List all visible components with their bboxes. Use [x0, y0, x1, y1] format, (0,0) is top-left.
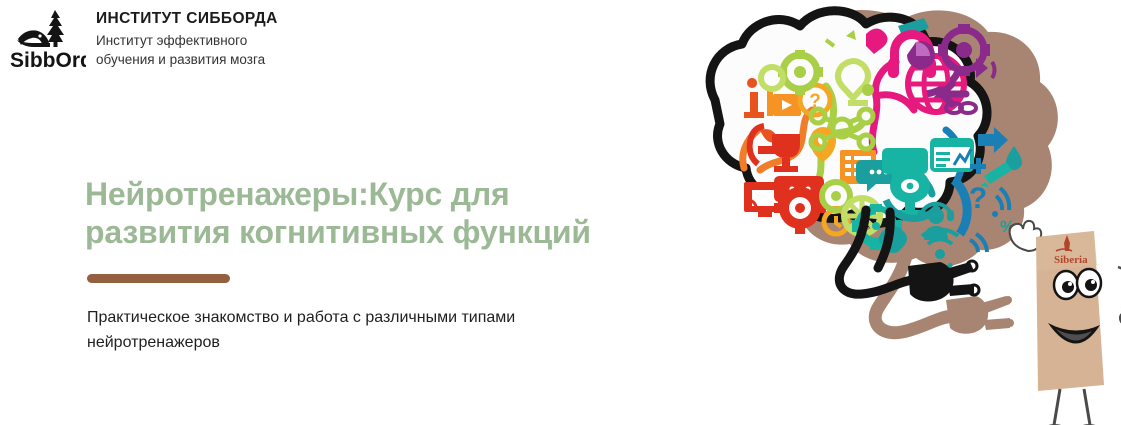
- mascot-label: Siberia: [1054, 254, 1088, 266]
- plug-shadow: [946, 296, 1014, 334]
- page-subtitle-line-2: нейротренажеров: [87, 334, 220, 351]
- brand-title: ИНСТИТУТ СИББОРДА: [96, 10, 278, 28]
- hero-illustration: ?: [640, 0, 1121, 425]
- hero-block: Нейротренажеры:Курс для развития когнити…: [85, 176, 665, 356]
- svg-text:?: ?: [969, 182, 987, 215]
- page-subtitle: Практическое знакомство и работа с разли…: [87, 305, 627, 357]
- wooden-plank-mascot: Siberia: [1010, 221, 1121, 425]
- sibbord-logo[interactable]: SibbOrd: [8, 6, 86, 72]
- page-title: Нейротренажеры:Курс для развития когнити…: [85, 176, 665, 252]
- mascot-legs: [1038, 389, 1106, 425]
- brand-subtitle-line-1: Институт эффективного: [96, 31, 278, 51]
- site-header: SibbOrd ИНСТИТУТ СИББОРДА Институт эффек…: [0, 0, 278, 72]
- page-root: SibbOrd ИНСТИТУТ СИББОРДА Институт эффек…: [0, 0, 1121, 425]
- title-divider: [87, 274, 230, 283]
- power-plug-icon: [908, 261, 979, 302]
- page-title-line-2: развития когнитивных функций: [85, 214, 591, 250]
- page-subtitle-line-1: Практическое знакомство и работа с разли…: [87, 309, 515, 326]
- brand-text-block: ИНСТИТУТ СИББОРДА Институт эффективного …: [96, 10, 278, 70]
- brand-subtitle-line-2: обучения и развития мозга: [96, 50, 278, 70]
- pine-tree-bird-emblem: [17, 10, 64, 47]
- page-title-line-1: Нейротренажеры:Курс для: [85, 176, 509, 212]
- logo-wordmark: SibbOrd: [10, 49, 86, 72]
